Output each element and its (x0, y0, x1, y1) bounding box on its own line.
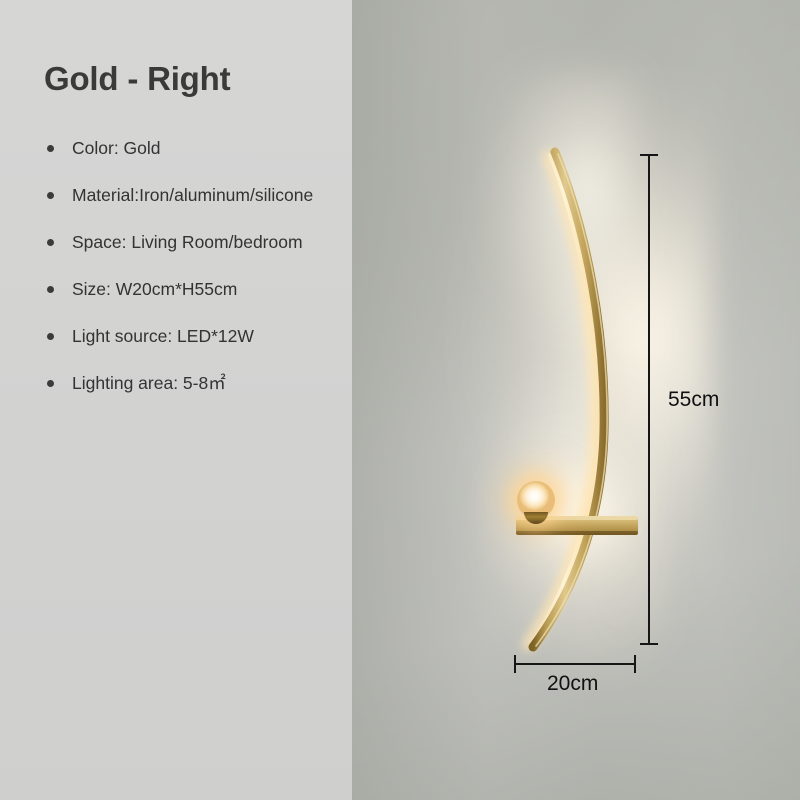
height-dimension-cap-top (640, 154, 658, 156)
bullet-icon (47, 239, 54, 246)
spec-item-label: Light source: LED*12W (72, 326, 254, 346)
spec-item-label: Lighting area: 5-8㎡ (72, 373, 226, 393)
bullet-icon (47, 333, 54, 340)
product-photo-panel: 55cm 20cm (352, 0, 800, 800)
specification-panel: Gold - Right Color: Gold Material:Iron/a… (0, 0, 352, 800)
bullet-icon (47, 380, 54, 387)
height-dimension-cap-bottom (640, 643, 658, 645)
height-dimension-label: 55cm (668, 388, 719, 412)
bullet-icon (47, 145, 54, 152)
spec-item-label: Space: Living Room/bedroom (72, 232, 303, 252)
led-emission-glow (528, 156, 595, 645)
width-dimension-cap-left (514, 655, 516, 673)
height-dimension-line (648, 154, 650, 645)
width-dimension-line (514, 663, 636, 665)
product-spec-screenshot: Gold - Right Color: Gold Material:Iron/a… (0, 0, 800, 800)
spec-item-label: Material:Iron/aluminum/silicone (72, 185, 313, 205)
page-title: Gold - Right (44, 60, 230, 98)
width-dimension-label: 20cm (547, 672, 598, 696)
bullet-icon (47, 192, 54, 199)
spec-item-label: Size: W20cm*H55cm (72, 279, 237, 299)
spec-item-label: Color: Gold (72, 138, 161, 158)
bullet-icon (47, 286, 54, 293)
mount-bar-bottom-shade (516, 531, 638, 535)
width-dimension-cap-right (634, 655, 636, 673)
